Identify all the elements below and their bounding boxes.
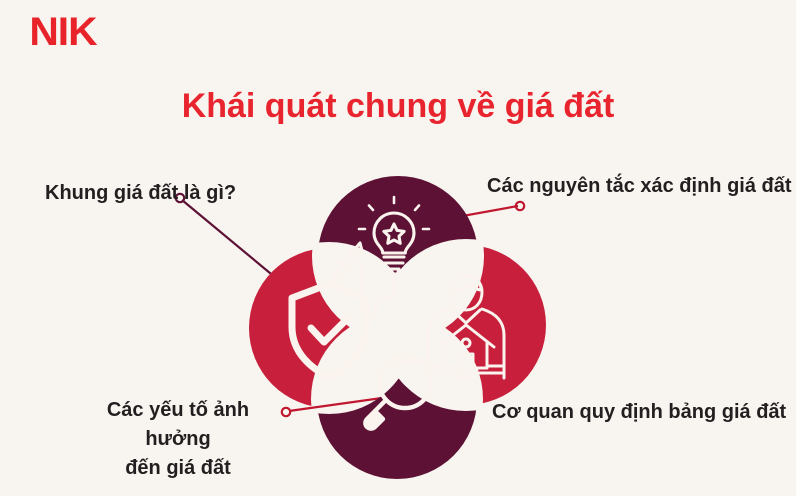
label-khung-gia-dat: Khung giá đất là gì? bbox=[45, 179, 236, 208]
label-co-quan: Cơ quan quy định bảng giá đất bbox=[492, 398, 786, 427]
label-yeu-to-line2: đến giá đất bbox=[73, 454, 283, 483]
infographic-canvas: NIK Khái quát chung về giá đất bbox=[0, 0, 796, 496]
label-yeu-to: Các yếu tố ảnh hưởng đến giá đất bbox=[73, 396, 283, 483]
circle-factors[interactable] bbox=[317, 319, 477, 479]
label-nguyen-tac: Các nguyên tắc xác định giá đất bbox=[487, 172, 792, 201]
label-yeu-to-line1: Các yếu tố ảnh hưởng bbox=[73, 396, 283, 454]
